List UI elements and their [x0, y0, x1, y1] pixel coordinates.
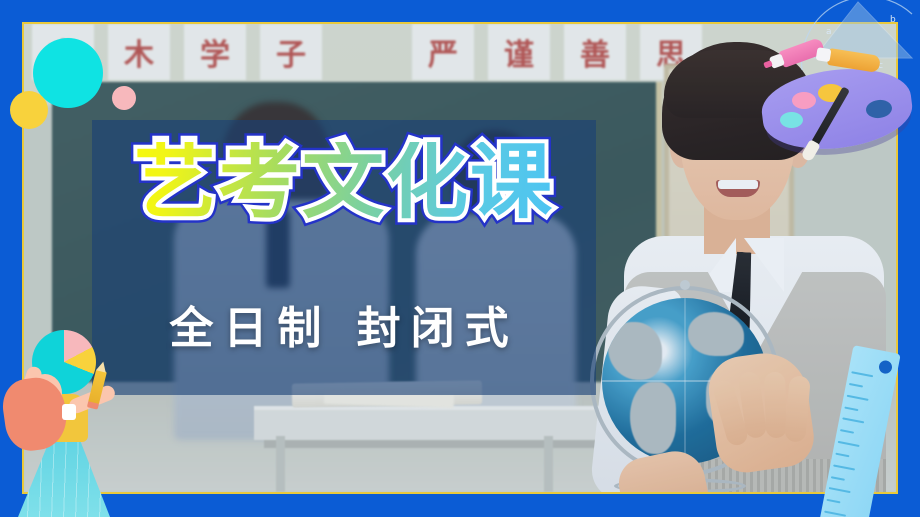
ruler-tick	[838, 441, 860, 447]
page-title: 艺考文化课	[92, 142, 596, 224]
circle-pink-icon	[112, 86, 136, 110]
circle-yellow-icon	[10, 91, 48, 129]
subheadline: 全日制 封闭式	[92, 292, 596, 356]
ruler-tick	[840, 429, 854, 434]
ruler-tick	[824, 511, 846, 517]
ruler-tick	[844, 406, 858, 411]
ruler-tick	[829, 487, 851, 493]
headline-panel: 艺考文化课 艺考文化课 艺考文化课 艺考文化课 全日制 封闭式	[92, 120, 596, 395]
ruler-tick	[831, 476, 845, 481]
headline-block: 艺考文化课 艺考文化课 艺考文化课 艺考文化课	[92, 142, 596, 224]
paint-blob-pink	[792, 92, 816, 109]
girl-illustration	[0, 330, 130, 517]
ruler-tick	[851, 371, 873, 377]
poster-canvas: 求 木 学 子 严 谨 善 思	[0, 0, 920, 517]
ruler-tick	[835, 453, 849, 458]
ruler-tick	[847, 394, 869, 400]
ruler-tick	[842, 418, 864, 424]
girl-cuff	[62, 404, 76, 420]
frame-bottom	[0, 494, 920, 517]
art-palette-illustration	[762, 8, 920, 158]
paint-blob-cyan	[780, 112, 803, 128]
ruler-tick	[833, 464, 855, 470]
ruler-tick	[849, 383, 863, 388]
ruler-tick	[826, 499, 840, 504]
